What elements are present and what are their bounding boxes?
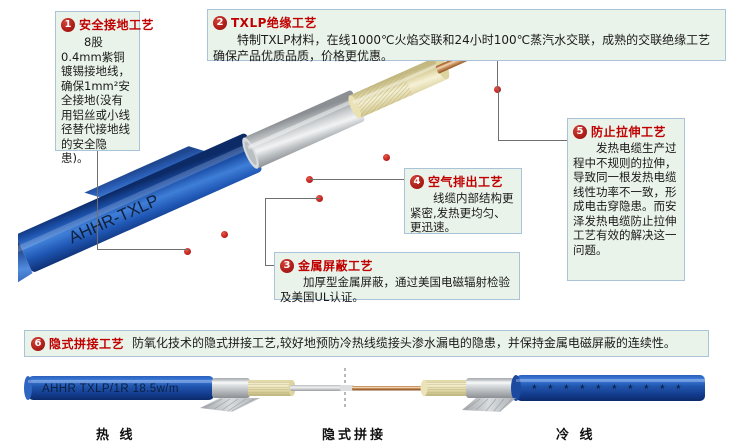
callout-1-body: 8股0.4mm紫铜镀锡接地线，确保1mm²安全接地(没有用铝丝或小线径替代接地线… [61, 35, 134, 166]
callout-box-6: 6 隐式拼接工艺 防氧化技术的隐式拼接工艺,较好地预防冷热线缆接头渗水漏电的隐患… [24, 330, 709, 357]
callout-5-title: 防止拉伸工艺 [591, 123, 666, 140]
cold-wire-section: * * * * * * * * * * [421, 375, 706, 412]
hot-wire-print: AHHR TXLP/1R 18.5w/m [42, 383, 179, 395]
connector-line-5-h [498, 140, 567, 141]
callout-2-body: 特制TXLP材料，在线1000℃火焰交联和24小时100℃蒸汽水交联，成熟的交联… [213, 32, 720, 64]
callout-box-5: 5 防止拉伸工艺 发热电缆生产过程中不规则的拉伸，导致同一根发热电缆线性功率不一… [567, 118, 685, 281]
marker-dot-insulation-2 [383, 154, 390, 161]
connector-line-3-h2 [265, 198, 320, 199]
connector-line-2-v [497, 61, 498, 89]
callout-3-title: 金属屏蔽工艺 [298, 257, 373, 274]
cable-jacket-layer: AHHR-TXLP [18, 132, 268, 288]
marker-dot-shield [221, 231, 228, 238]
cable-shield-layer [239, 90, 365, 171]
callout-2-header: 2 TXLP绝缘工艺 [213, 14, 720, 31]
connector-line-4-h [310, 179, 404, 180]
hot-wire-section: AHHR TXLP/1R 18.5w/m [24, 376, 346, 412]
callout-1-title: 安全接地工艺 [79, 16, 154, 33]
callout-box-1: 1 安全接地工艺 8股0.4mm紫铜镀锡接地线，确保1mm²安全接地(没有用铝丝… [55, 11, 140, 151]
callout-6-title: 隐式拼接工艺 [49, 335, 124, 352]
callout-3-body: 加厚型金属屏蔽，通过美国电磁辐射检验及美国UL认证。 [280, 275, 514, 304]
splice-illustration: AHHR TXLP/1R 18.5w/m [24, 366, 709, 416]
splice-joint [340, 368, 430, 410]
callout-4-header: 4 空气排出工艺 [410, 173, 516, 190]
callout-4-title: 空气排出工艺 [428, 173, 503, 190]
label-hot-wire: 热 线 [96, 424, 136, 443]
label-splice: 隐式拼接 [322, 424, 386, 443]
callout-4-body: 线缆内部结构更紧密,发热更均匀、更迅速。 [410, 191, 516, 235]
connector-line-1-v [97, 151, 98, 250]
connector-line-1-h [97, 249, 188, 250]
callout-4-badge: 4 [410, 175, 424, 189]
callout-3-badge: 3 [280, 259, 294, 273]
diagram-canvas: AHHR-TXLP [0, 0, 733, 448]
callout-box-4: 4 空气排出工艺 线缆内部结构更紧密,发热更均匀、更迅速。 [404, 168, 522, 234]
callout-1-badge: 1 [61, 18, 75, 32]
connector-line-5-v [498, 89, 499, 141]
callout-1-header: 1 安全接地工艺 [61, 16, 134, 33]
connector-line-3-v [265, 198, 266, 266]
callout-box-3: 3 金属屏蔽工艺 加厚型金属屏蔽，通过美国电磁辐射检验及美国UL认证。 [274, 252, 520, 300]
callout-6-body: 防氧化技术的隐式拼接工艺,较好地预防冷热线缆接头渗水漏电的隐患，并保持金属电磁屏… [132, 336, 676, 351]
callout-3-header: 3 金属屏蔽工艺 [280, 257, 514, 274]
callout-2-title: TXLP绝缘工艺 [231, 14, 317, 31]
cold-wire-marking: * * * * * * * * * * [532, 382, 685, 396]
callout-6-header: 6 隐式拼接工艺 [31, 335, 124, 352]
label-cold-wire: 冷 线 [556, 424, 596, 443]
callout-5-body: 发热电缆生产过程中不规则的拉伸，导致同一根发热电缆线性功率不一致，形成电击穿隐患… [573, 141, 679, 257]
callout-5-header: 5 防止拉伸工艺 [573, 123, 679, 140]
callout-box-2: 2 TXLP绝缘工艺 特制TXLP材料，在线1000℃火焰交联和24小时100℃… [207, 9, 726, 61]
callout-2-badge: 2 [213, 16, 227, 30]
callout-6-badge: 6 [31, 337, 45, 351]
callout-5-badge: 5 [573, 125, 587, 139]
